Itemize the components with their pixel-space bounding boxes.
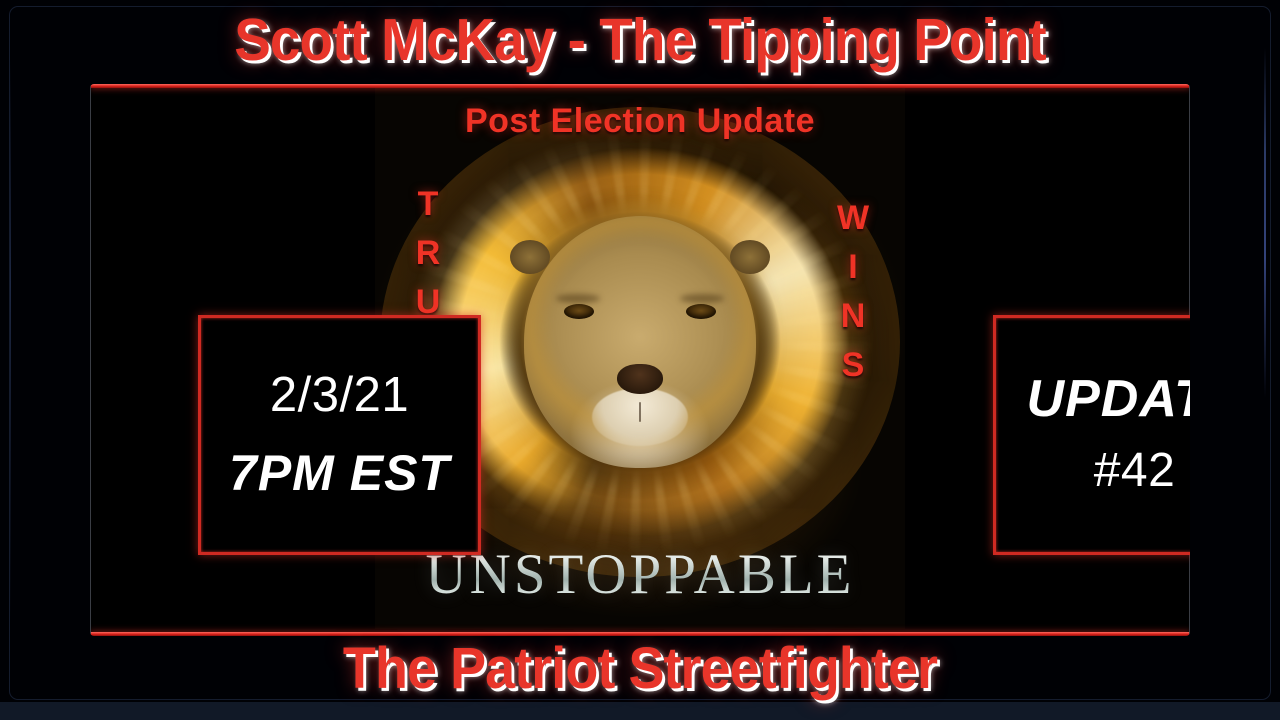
panel-top-rule — [90, 84, 1190, 88]
artwork-top-caption: Post Election Update — [375, 102, 905, 141]
update-box: UPDATE #42 — [993, 315, 1190, 555]
right-edge-stripe — [1264, 48, 1266, 398]
thumbnail-stage: Scott McKay - The Tipping Point — [0, 0, 1280, 720]
left-edge-stripe — [10, 60, 11, 620]
show-subtitle: The Patriot Streetfighter — [45, 637, 1235, 701]
lion-nose — [617, 364, 663, 394]
show-title: Scott McKay - The Tipping Point — [45, 8, 1235, 72]
wins-letter-i: I — [831, 243, 875, 292]
broadcast-date: 2/3/21 — [270, 360, 409, 430]
update-number: #42 — [1094, 435, 1176, 507]
update-label: UPDATE — [1027, 363, 1190, 435]
lion-eye-left — [564, 304, 594, 319]
wins-letter-w: W — [831, 194, 875, 243]
wins-letter-s: S — [831, 341, 875, 390]
lion-mouth — [639, 402, 641, 422]
lion-brow-left — [556, 294, 600, 303]
schedule-box: 2/3/21 7PM EST — [198, 315, 481, 555]
trump-letter-r: R — [406, 229, 450, 278]
lion-brow-right — [680, 294, 724, 303]
lion-ear-right — [730, 240, 770, 274]
lion-face-icon — [524, 216, 756, 468]
trump-letter-t: T — [406, 180, 450, 229]
bottom-edge-band — [0, 702, 1280, 720]
lion-eye-right — [686, 304, 716, 319]
panel-left-edge — [90, 84, 91, 636]
content-panel: Post Election Update T R U M P W I N S U… — [90, 84, 1190, 636]
broadcast-time: 7PM EST — [229, 436, 450, 510]
lion-ear-left — [510, 240, 550, 274]
vertical-word-wins: W I N S — [831, 194, 875, 390]
wins-letter-n: N — [831, 292, 875, 341]
